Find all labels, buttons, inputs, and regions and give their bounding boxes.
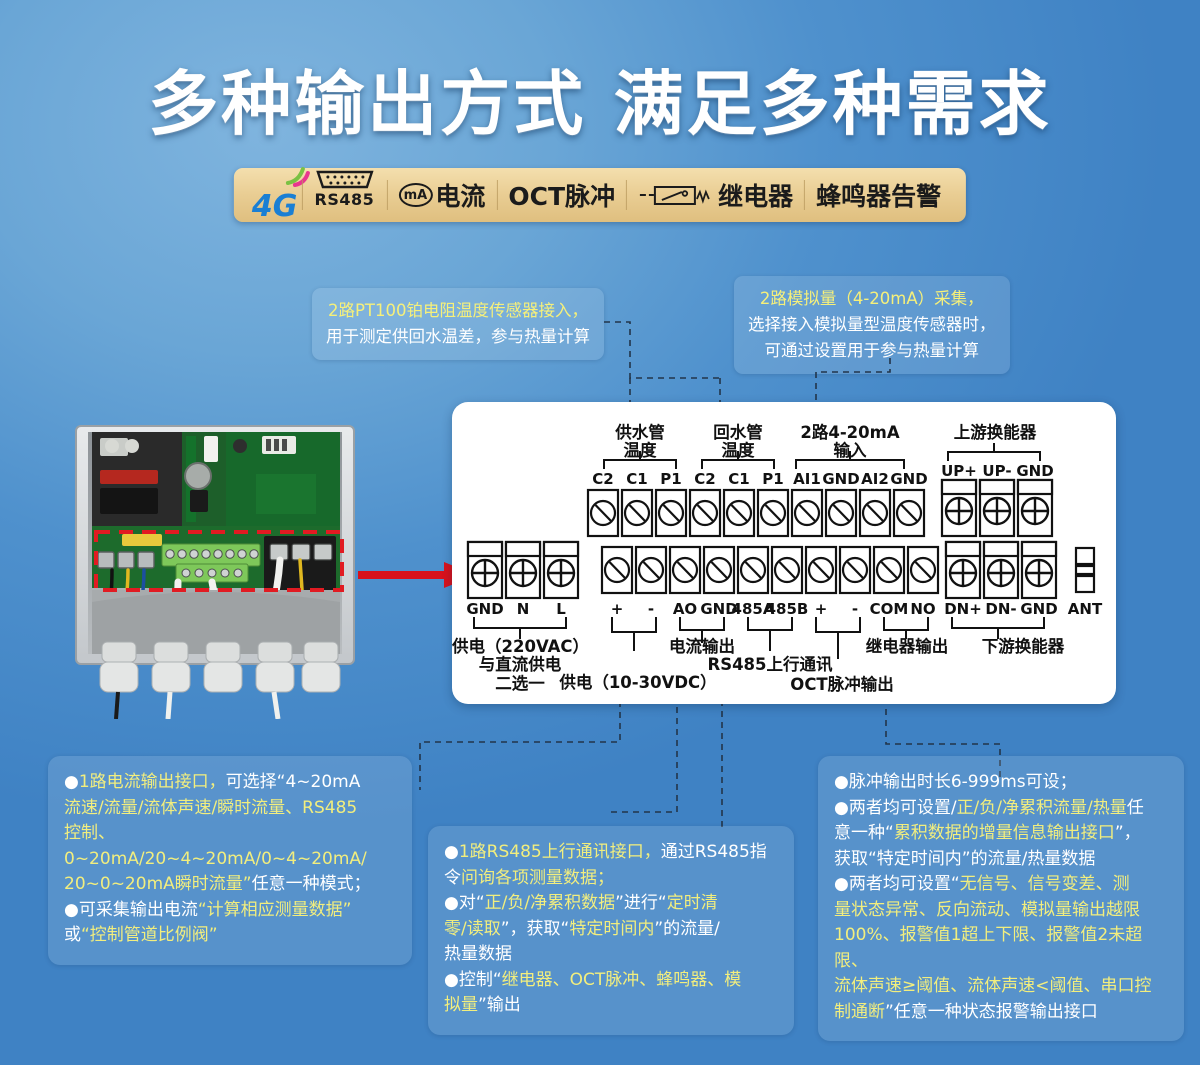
milliamp-icon: mA: [398, 183, 432, 207]
callout-pt100-line2: 用于测定供回水温差，参与热量计算: [326, 327, 590, 346]
infobox-pulse-relay: ●脉冲输出时长6-999ms可设；●两者均可设置/正/负/净累积流量/热量任意一…: [818, 756, 1184, 1041]
signal-arc-icon: [281, 164, 311, 190]
annotation-rs485: RS485上行通讯: [680, 656, 860, 674]
badge-relay-label: 继电器: [718, 177, 793, 213]
power-terminal-row: [468, 542, 578, 598]
infobox-line: 或“控制管道比例阀”: [64, 923, 396, 949]
infobox-rs485: ●1路RS485上行通讯接口，通过RS485指令问询各项测量数据；●对“正/负/…: [428, 826, 794, 1035]
callout-analog: 2路模拟量（4-20mA）采集， 选择接入模拟量型温度传感器时， 可通过设置用于…: [734, 276, 1010, 374]
badge-separator: [496, 180, 497, 210]
group-label-analog-input: 2路4-20mA 输入: [788, 424, 912, 460]
upstream-terminal-row: [942, 480, 1052, 536]
infobox-line: 量状态异常、反向流动、模拟量输出越限: [834, 898, 1168, 924]
infobox-line: 拟量”输出: [444, 993, 778, 1019]
infobox-text-segment: 流体声速≥阈值、流体声速<阈值、串口控: [834, 976, 1152, 996]
downstream-terminal-row: [946, 542, 1056, 598]
infobox-text-segment: 定时清: [667, 893, 718, 913]
callout-pt100: 2路PT100铂电阻温度传感器接入， 用于测定供回水温差，参与热量计算: [312, 288, 604, 360]
badge-rs485: RS485: [302, 168, 386, 222]
infobox-text-segment: 可选择“4~20mA: [226, 772, 361, 792]
infobox-text-segment: 20~0~20mA瞬时流量”: [64, 874, 252, 894]
infobox-text-segment: ”输出: [478, 995, 521, 1015]
group-label-upstream-transducer: 上游换能器: [930, 424, 1060, 442]
infobox-text-segment: 通过RS485指: [661, 842, 767, 862]
infobox-text-segment: 100%、报警值1超上下限、报警值2未超限、: [834, 925, 1142, 971]
badge-rs485-label: RS485: [315, 192, 375, 208]
relay-switch-icon: [638, 182, 714, 208]
infobox-text-segment: 零/读取: [444, 919, 501, 939]
infobox-line: 获取“特定时间内”的流量/热量数据: [834, 847, 1168, 873]
infobox-text-segment: ”，获取“: [501, 919, 570, 939]
infobox-line: ●对“正/负/净累积数据”进行“定时清: [444, 891, 778, 917]
infobox-text-segment: 量状态异常、反向流动、模拟量输出越限: [834, 900, 1140, 920]
infobox-text-segment: ●对“: [444, 893, 485, 913]
annotation-power-dc: 供电（10-30VDC）: [548, 674, 728, 692]
badge-current-label: 电流: [435, 177, 485, 213]
infobox-line: ●两者均可设置/正/负/净累积流量/热量任: [834, 796, 1168, 822]
infobox-text-segment: 控制、0~20mA/20~4~20mA/0~4~20mA/: [64, 823, 367, 869]
infobox-text-segment: ●: [444, 842, 459, 862]
infobox-text-segment: ●两者均可设置/: [834, 798, 957, 818]
infobox-text-segment: 问询各项测量数据；: [461, 868, 614, 888]
antenna-connector: [1076, 548, 1094, 592]
terminal-diagram-panel: 供水管 温度 回水管 温度 2路4-20mA 输入 上游换能器: [452, 402, 1116, 704]
infobox-text-segment: 特定时间内: [569, 919, 654, 939]
infobox-text-segment: 意一种“: [834, 823, 894, 843]
badge-oct-label: OCT脉冲: [508, 177, 615, 213]
infobox-line: 令问询各项测量数据；: [444, 866, 778, 892]
badge-4g: 4G: [248, 168, 302, 222]
infobox-text-segment: ●脉冲输出时长6-999ms可设；: [834, 772, 1077, 792]
badge-separator: [301, 180, 302, 210]
infobox-text-segment: 无信号、信号变差、测: [960, 874, 1130, 894]
infobox-line: ●两者均可设置“无信号、信号变差、测: [834, 872, 1168, 898]
top-terminal-row: [588, 490, 924, 536]
infobox-text-segment: 1路RS485上行通讯接口，: [459, 842, 661, 862]
infobox-line: 意一种“累积数据的增量信息输出接口”，: [834, 821, 1168, 847]
infobox-line: 零/读取”，获取“特定时间内”的流量/: [444, 917, 778, 943]
infobox-text-segment: 流速/流量/流体声速/瞬时流量、RS485: [64, 798, 357, 818]
badge-separator: [386, 180, 387, 210]
group-label-supply-water-temp: 供水管 温度: [592, 424, 688, 460]
infobox-text-segment: ”进行“: [615, 893, 667, 913]
infobox-line: 控制、0~20mA/20~4~20mA/0~4~20mA/: [64, 821, 396, 872]
annotation-oct: OCT脉冲输出: [768, 676, 916, 694]
pin-label-gnd-dn: GND: [1015, 600, 1063, 618]
infobox-text-segment: 获取“特定时间内”的流量/热量数据: [834, 849, 1095, 869]
infobox-text-segment: “计算相应测量数据”: [198, 900, 352, 920]
infobox-text-segment: 令: [444, 868, 461, 888]
bottom-terminal-row: [602, 547, 938, 593]
infobox-text-segment: “控制管道比例阀”: [81, 925, 218, 945]
pin-label-gnd-up: GND: [1013, 462, 1057, 480]
infobox-text-segment: 热量数据: [444, 944, 512, 964]
callout-analog-line1: 2路模拟量（4-20mA）采集，: [760, 289, 984, 308]
infobox-text-segment: 1路电流输出接口，: [79, 772, 226, 792]
infobox-line: ●1路RS485上行通讯接口，通过RS485指: [444, 840, 778, 866]
badge-current: mA 电流: [387, 168, 496, 222]
infobox-text-segment: 累积数据的增量信息输出接口: [894, 823, 1115, 843]
pin-label-no: NO: [903, 600, 943, 618]
annotation-relay: 继电器输出: [840, 638, 974, 656]
infobox-text-segment: ”，: [1115, 823, 1141, 843]
page-title: 多种输出方式 满足多种需求: [0, 48, 1200, 149]
pin-label-ant: ANT: [1063, 600, 1107, 618]
infobox-line: 100%、报警值1超上下限、报警值2未超限、: [834, 923, 1168, 974]
feature-badge-bar: 4G RS485 mA 电流 OCT脉冲: [234, 168, 966, 222]
infobox-text-segment: ●控制“: [444, 970, 502, 990]
infobox-text-segment: 任: [1127, 798, 1144, 818]
pin-label-gnd-ai2: GND: [887, 470, 931, 488]
pin-label-l: L: [539, 600, 583, 618]
infobox-text-segment: ”的流量/: [654, 919, 720, 939]
callout-pt100-line1: 2路PT100铂电阻温度传感器接入，: [328, 301, 588, 320]
annotation-current-output: 电流输出: [648, 638, 756, 656]
badge-buzzer-label: 蜂鸣器告警: [816, 177, 941, 213]
infobox-line: ●脉冲输出时长6-999ms可设；: [834, 770, 1168, 796]
infobox-line: 20~0~20mA瞬时流量”任意一种模式；: [64, 872, 396, 898]
infobox-text-segment: 正/负/净累积数据: [485, 893, 615, 913]
badge-buzzer: 蜂鸣器告警: [805, 168, 952, 222]
infobox-line: 流速/流量/流体声速/瞬时流量、RS485: [64, 796, 396, 822]
infobox-text-segment: 正/负/净累积流量/热量: [957, 798, 1127, 818]
annotation-downstream: 下游换能器: [964, 638, 1082, 656]
infobox-text-segment: ●: [64, 772, 79, 792]
callout-analog-line3: 可通过设置用于参与热量计算: [765, 341, 980, 360]
infobox-line: ●控制“继电器、OCT脉冲、蜂鸣器、模: [444, 968, 778, 994]
infobox-text-segment: 继电器、OCT脉冲、蜂鸣器、模: [502, 970, 742, 990]
product-photo: [66, 424, 366, 719]
infobox-text-segment: 或: [64, 925, 81, 945]
infobox-current-output: ●1路电流输出接口，可选择“4~20mA流速/流量/流体声速/瞬时流量、RS48…: [48, 756, 412, 965]
group-label-return-water-temp: 回水管 温度: [690, 424, 786, 460]
badge-4g-label: 4G: [252, 192, 298, 222]
infobox-text-segment: 制通断: [834, 1002, 885, 1022]
badge-relay: 继电器: [627, 168, 804, 222]
infobox-line: 流体声速≥阈值、流体声速<阈值、串口控: [834, 974, 1168, 1000]
dsub-connector-icon: [313, 168, 375, 190]
badge-separator: [626, 180, 627, 210]
badge-separator: [804, 180, 805, 210]
infobox-text-segment: ●可采集输出电流: [64, 900, 198, 920]
infobox-line: 制通断”任意一种状态报警输出接口: [834, 1000, 1168, 1026]
infobox-line: 热量数据: [444, 942, 778, 968]
infobox-text-segment: 任意一种模式；: [252, 874, 371, 894]
infobox-text-segment: ”任意一种状态报警输出接口: [885, 1002, 1098, 1022]
infobox-line: ●1路电流输出接口，可选择“4~20mA: [64, 770, 396, 796]
infobox-text-segment: ●两者均可设置“: [834, 874, 960, 894]
infobox-line: ●可采集输出电流“计算相应测量数据”: [64, 898, 396, 924]
infobox-text-segment: 拟量: [444, 995, 478, 1015]
badge-oct: OCT脉冲: [497, 168, 626, 222]
callout-analog-line2: 选择接入模拟量型温度传感器时，: [748, 315, 996, 334]
